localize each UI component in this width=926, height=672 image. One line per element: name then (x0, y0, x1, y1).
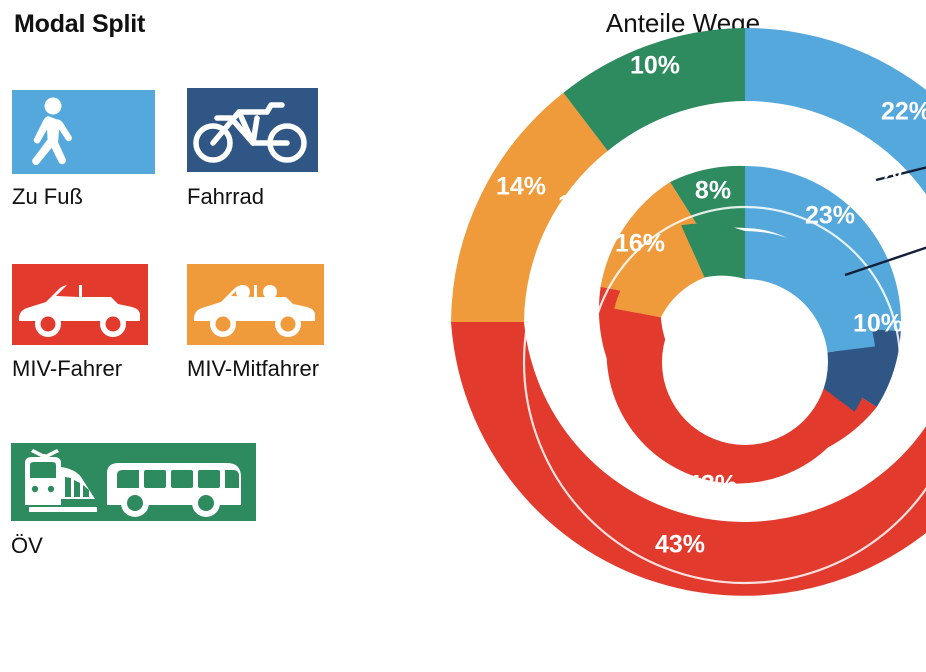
label-ring1-fahrrad: 10% (853, 310, 903, 338)
label-ring1-zu-fuss: 23% (805, 202, 855, 230)
label-ring2-zu-fuss: 24% (852, 157, 902, 185)
legend-item-oev[interactable]: ÖV (11, 443, 256, 521)
label-ring2-oev: 8% (667, 113, 703, 141)
label-ring3-miv-mitfahrer: 14% (496, 173, 546, 201)
legend-label-oev: ÖV (11, 533, 43, 559)
legend-item-miv-fahrer[interactable]: MIV-Fahrer (12, 264, 148, 345)
label-ring2-miv-mitfahrer: 15% (558, 191, 608, 219)
car-driver-icon (12, 264, 148, 345)
bicycle-icon (187, 88, 318, 172)
pedestrian-icon (12, 90, 155, 174)
label-ring1-oev: 8% (695, 177, 731, 205)
legend-item-fahrrad[interactable]: Fahrrad (187, 88, 318, 172)
label-ring3-oev: 10% (630, 52, 680, 80)
donut-svg: 10% 8% 8% 22% 24% 23% 10% 10% 14% 15% 16… (440, 0, 926, 672)
legend-panel: Modal Split Zu Fuß (0, 0, 440, 672)
label-ring3-miv-fahrer: 44% (627, 589, 677, 617)
label-ring2-miv-fahrer: 43% (655, 531, 705, 559)
train-bus-icon (11, 443, 256, 521)
legend-item-miv-mitfahrer[interactable]: MIV-Mitfahrer (187, 264, 324, 345)
label-ring1-miv-mitfahrer: 16% (615, 230, 665, 258)
donut-center-hole (662, 279, 828, 445)
chart-panel: Anteile Wege (440, 0, 926, 672)
label-ring3-zu-fuss: 22% (881, 98, 926, 126)
label-ring2-fahrrad: 10% (901, 335, 926, 363)
car-passenger-icon (187, 264, 324, 345)
legend-label-fahrrad: Fahrrad (187, 184, 264, 210)
legend-label-miv-mitfahrer: MIV-Mitfahrer (187, 356, 319, 382)
page-title: Modal Split (14, 10, 145, 39)
legend-label-zu-fuss: Zu Fuß (12, 184, 83, 210)
legend-label-miv-fahrer: MIV-Fahrer (12, 356, 122, 382)
legend-item-zu-fuss[interactable]: Zu Fuß (12, 90, 155, 174)
label-ring1-miv-fahrer: 43% (687, 471, 737, 499)
nested-donut-chart: 10% 8% 8% 22% 24% 23% 10% 10% 14% 15% 16… (440, 0, 926, 672)
